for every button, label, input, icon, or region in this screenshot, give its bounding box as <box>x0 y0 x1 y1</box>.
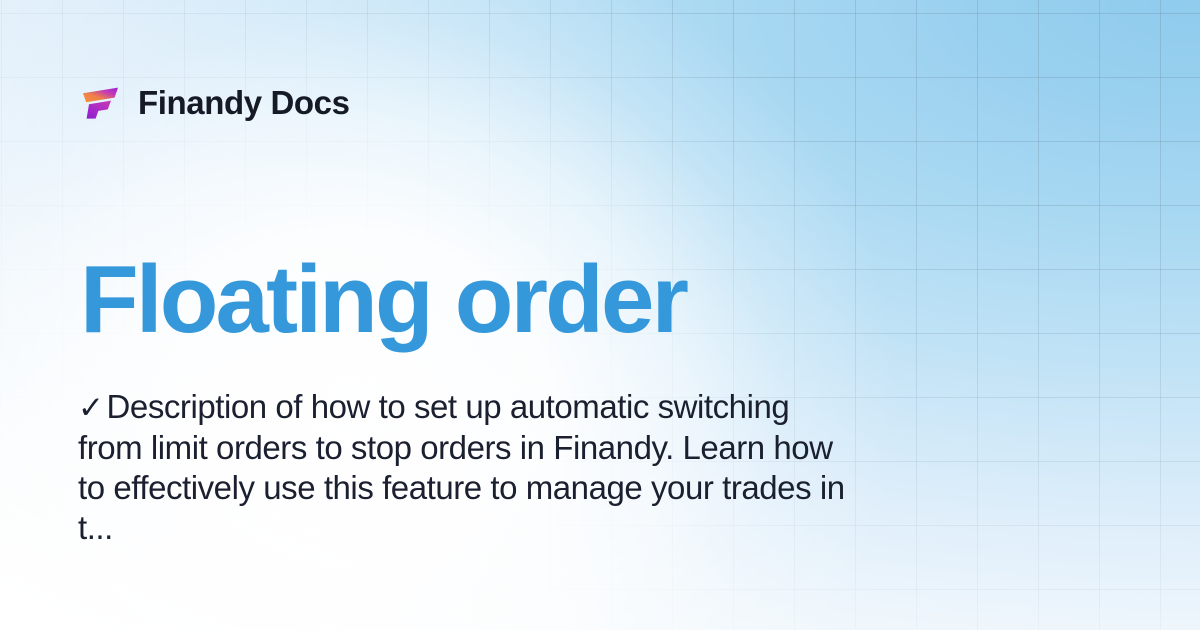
brand-name-label: Finandy Docs <box>138 86 350 119</box>
brand-lockup: Finandy Docs <box>80 82 350 122</box>
finandy-f-logo-icon <box>80 82 120 122</box>
og-card: Finandy Docs Floating order ✓Description… <box>0 0 1200 630</box>
page-description: ✓Description of how to set up automatic … <box>78 387 848 548</box>
page-description-text: Description of how to set up automatic s… <box>78 388 845 546</box>
page-title: Floating order <box>80 252 686 348</box>
check-icon: ✓ <box>78 390 104 425</box>
card-content: Finandy Docs Floating order ✓Description… <box>0 0 1200 630</box>
